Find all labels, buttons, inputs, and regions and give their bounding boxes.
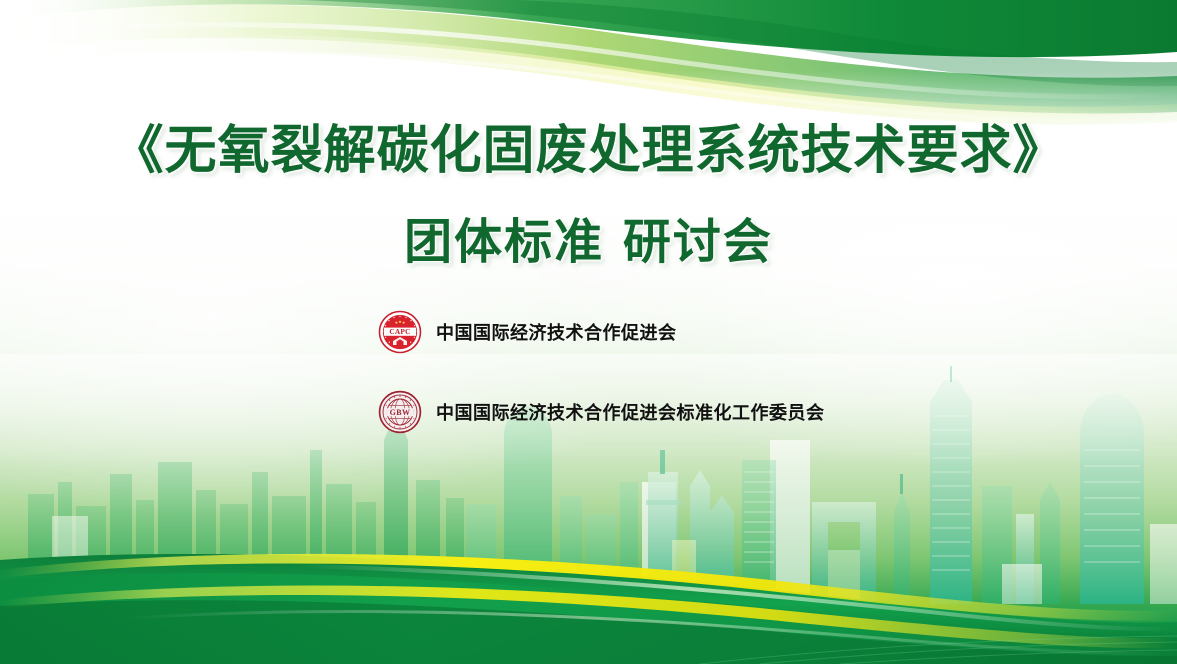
organization-label: 中国国际经济技术合作促进会 — [436, 319, 677, 345]
capc-seal-logo-icon: CAPC — [378, 310, 422, 354]
slide-title: 《无氧裂解碳化固废处理系统技术要求》 — [0, 108, 1177, 183]
presentation-slide: 《无氧裂解碳化固废处理系统技术要求》 团体标准 研讨会 — [0, 0, 1177, 664]
slide-content: 《无氧裂解碳化固废处理系统技术要求》 团体标准 研讨会 — [0, 0, 1177, 664]
organization-row: CAPC 中国国际经济技术合作促进会 — [378, 306, 825, 358]
organization-list: CAPC 中国国际经济技术合作促进会 — [378, 306, 825, 438]
slide-subtitle: 团体标准 研讨会 — [0, 202, 1177, 272]
capc-seal-logo: CAPC — [378, 310, 422, 354]
organization-label: 中国国际经济技术合作促进会标准化工作委员会 — [436, 399, 825, 425]
gbw-seal-logo-icon: GBW — [378, 390, 422, 434]
gbw-seal-logo: GBW — [378, 390, 422, 434]
svg-text:CAPC: CAPC — [389, 327, 410, 336]
organization-row: GBW 中国国际经济技术合作促进会标准化工作委员会 — [378, 386, 825, 438]
svg-text:GBW: GBW — [390, 408, 411, 417]
